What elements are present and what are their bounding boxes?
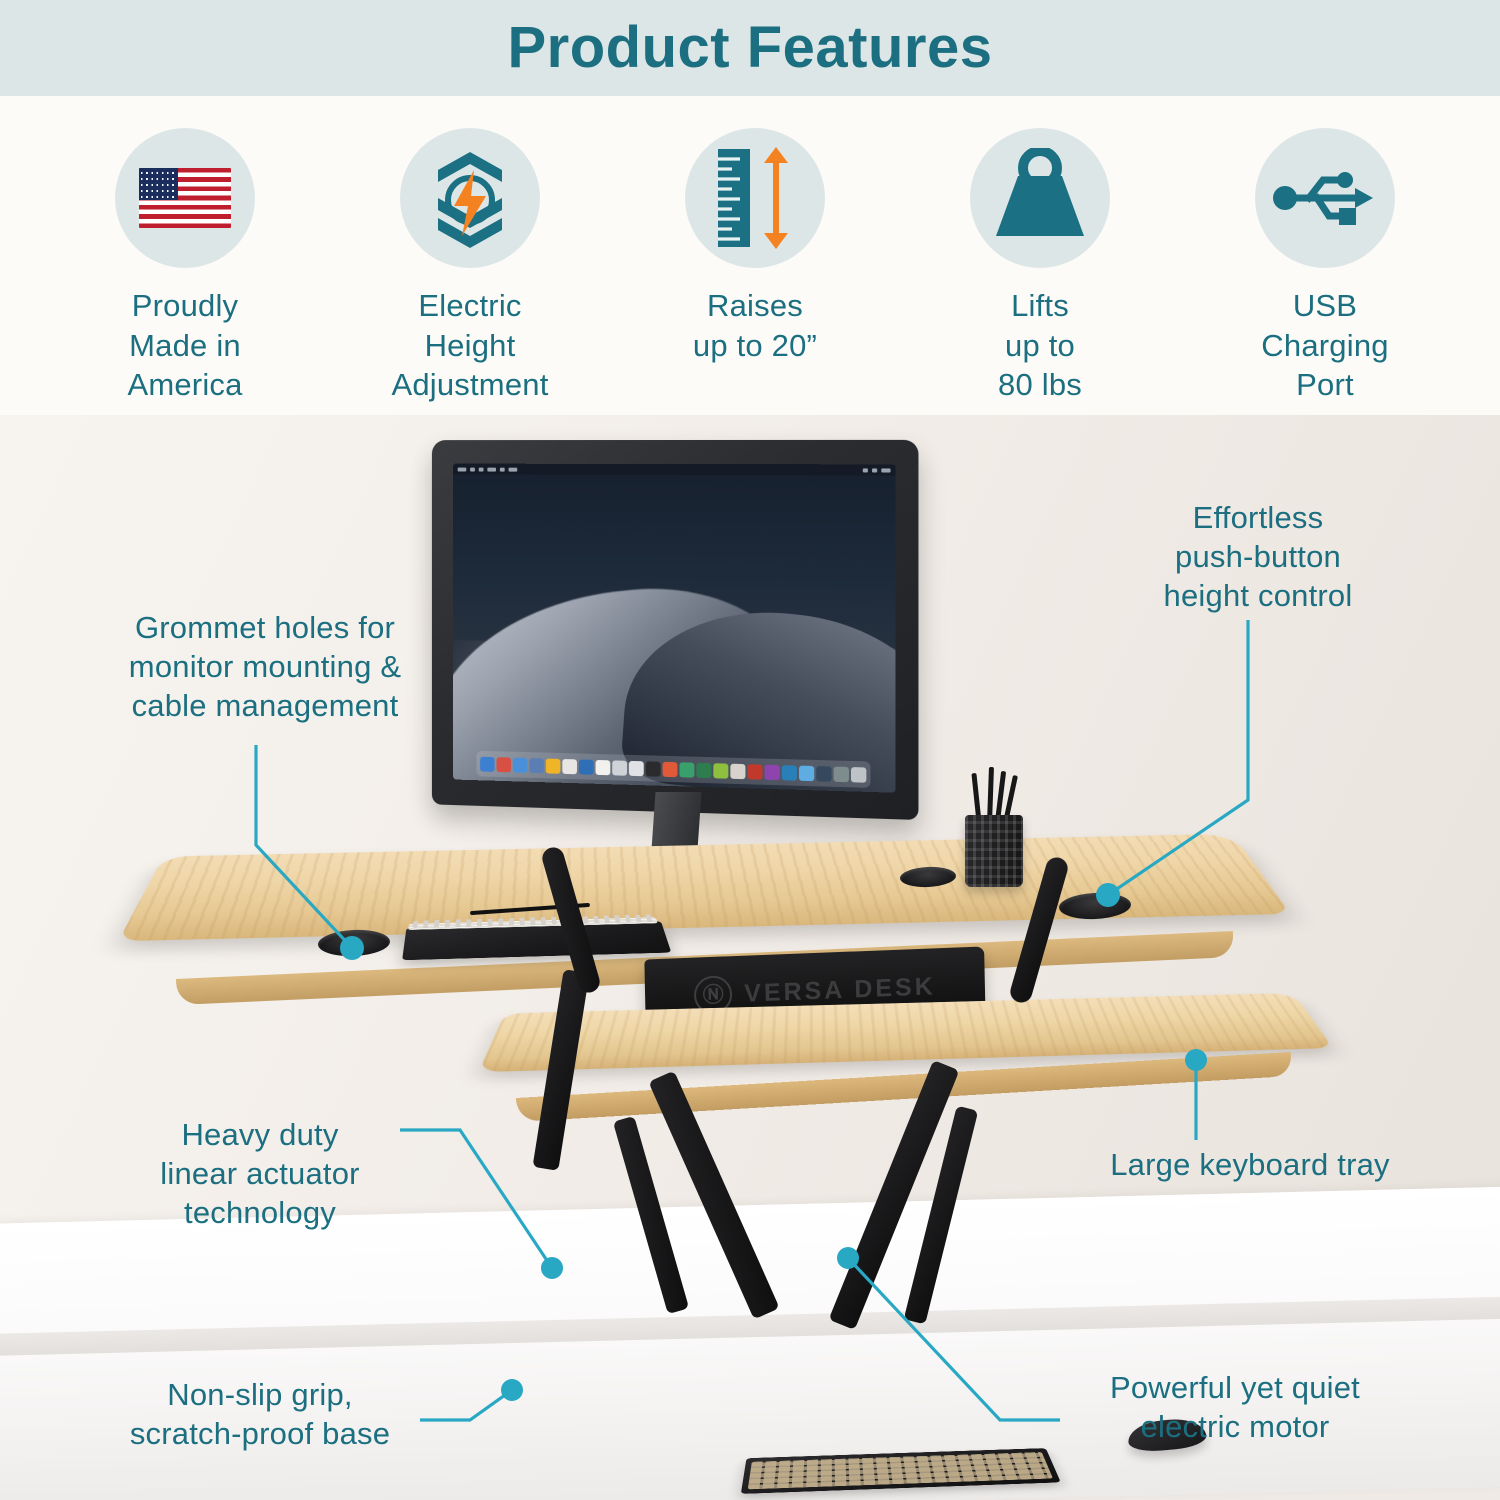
monitor xyxy=(425,440,915,840)
page-title: Product Features xyxy=(0,8,1500,88)
dock-icon xyxy=(765,764,780,780)
callout-grommet-holes: Grommet holes for monitor mounting & cab… xyxy=(70,608,460,725)
feature-item-made-in-america: Proudly Made in America xyxy=(60,128,310,405)
dock-icon xyxy=(513,757,527,772)
dock-icon xyxy=(782,765,797,781)
callout-push-button: Effortless push-button height control xyxy=(1108,498,1408,615)
dock-icon xyxy=(679,762,694,777)
feature-label: USB Charging Port xyxy=(1261,286,1388,405)
dock-icon xyxy=(562,759,577,774)
weight-icon xyxy=(970,128,1110,268)
macos-menu-bar xyxy=(453,464,896,476)
dock-icon xyxy=(629,760,644,775)
feature-item-lifts: Lifts up to 80 lbs xyxy=(915,128,1165,405)
dock-icon xyxy=(747,764,762,780)
dock-icon xyxy=(646,761,661,776)
dock-icon xyxy=(851,767,866,783)
dock-icon xyxy=(834,766,849,782)
dock-icon xyxy=(497,757,511,772)
electric-height-icon xyxy=(400,128,540,268)
dock-icon xyxy=(579,759,594,774)
monitor-screen xyxy=(453,464,896,793)
dock-icon xyxy=(529,758,544,773)
dock-icon xyxy=(596,759,611,774)
feature-item-electric-height: Electric Height Adjustment xyxy=(345,128,595,405)
dock-icon xyxy=(816,766,831,782)
dock-icon xyxy=(612,760,627,775)
feature-label: Lifts up to 80 lbs xyxy=(998,286,1082,405)
dock-icon xyxy=(546,758,561,773)
pen-holder xyxy=(965,815,1023,887)
dock-icon xyxy=(663,761,678,776)
usb-icon xyxy=(1255,128,1395,268)
dock-icon xyxy=(480,756,494,771)
callout-linear-actuator: Heavy duty linear actuator technology xyxy=(110,1115,410,1232)
callout-non-slip-base: Non-slip grip, scratch-proof base xyxy=(90,1375,430,1453)
dock-icon xyxy=(799,765,814,781)
feature-row: Proudly Made in America xyxy=(60,128,1450,408)
feature-item-raises: Raises up to 20” xyxy=(630,128,880,365)
feature-item-usb: USB Charging Port xyxy=(1200,128,1450,405)
feature-label: Raises up to 20” xyxy=(693,286,817,365)
ruler-arrow-icon xyxy=(685,128,825,268)
usa-flag-icon xyxy=(115,128,255,268)
dock-icon xyxy=(730,763,745,779)
feature-label: Electric Height Adjustment xyxy=(391,286,548,405)
dock-icon xyxy=(696,762,711,777)
callout-keyboard-tray: Large keyboard tray xyxy=(1070,1145,1430,1184)
infographic-root: Product Features Proudly Made in America xyxy=(0,0,1500,1500)
feature-label: Proudly Made in America xyxy=(127,286,242,405)
dock-icon xyxy=(713,763,728,778)
callout-electric-motor: Powerful yet quiet electric motor xyxy=(1055,1368,1415,1446)
